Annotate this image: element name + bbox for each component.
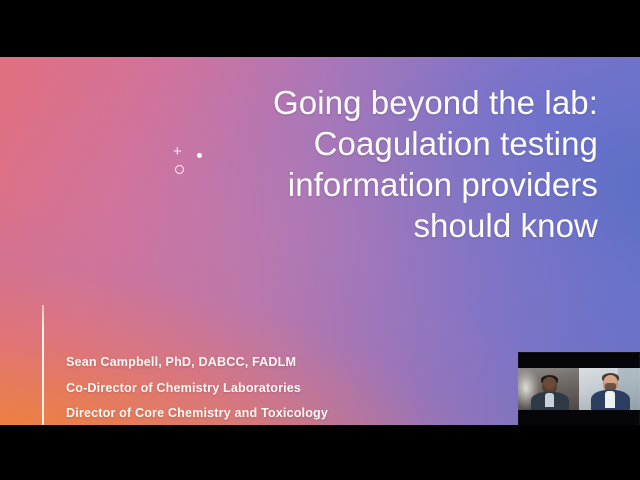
vertical-accent-rule [42, 305, 44, 425]
title-line: information providers [178, 164, 598, 205]
presenter-line: Sean Campbell, PhD, DABCC, FADLM [66, 350, 328, 376]
title-line: should know [178, 205, 598, 246]
presenter-line: Co-Director of Chemistry Laboratories [66, 376, 328, 402]
pip-border [518, 352, 640, 428]
letterbox-bottom [0, 425, 640, 480]
title-line: Going beyond the lab: [178, 82, 598, 123]
video-player-frame: + Going beyond the lab: Coagulation test… [0, 0, 640, 480]
letterbox-top [0, 0, 640, 57]
presenter-info: Sean Campbell, PhD, DABCC, FADLM Co-Dire… [66, 350, 328, 425]
slide-title: Going beyond the lab: Coagulation testin… [178, 82, 598, 246]
title-line: Coagulation testing [178, 123, 598, 164]
presenter-line: Director of Core Chemistry and Toxicolog… [66, 401, 328, 425]
webcam-overlay[interactable] [518, 352, 640, 428]
